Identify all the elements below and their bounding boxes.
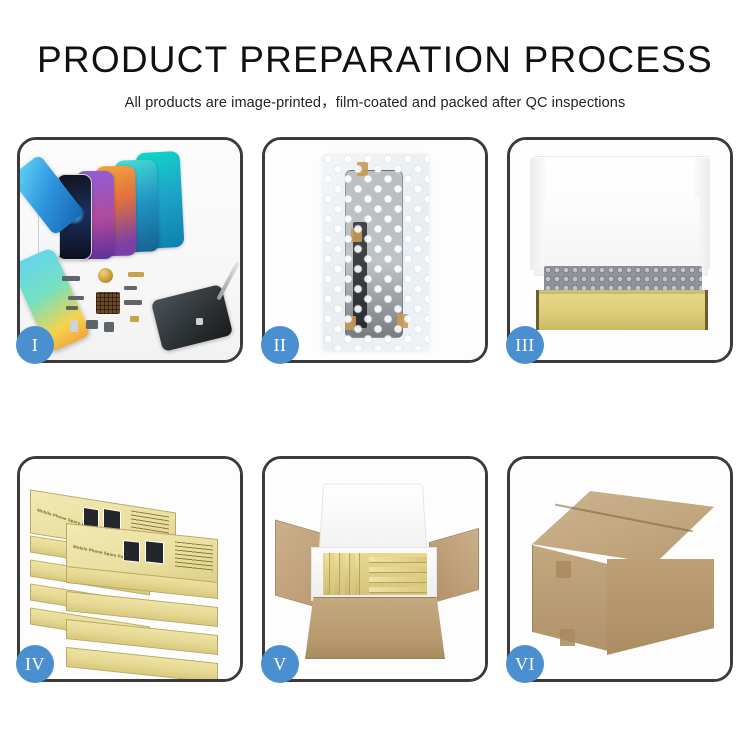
step-card-4: Mobile Phone Spare Parts Mobile Phone Sp… — [17, 456, 243, 682]
inner-box-row-2 — [369, 567, 427, 573]
step-badge-6: VI — [506, 645, 544, 683]
inner-box-slat-1 — [325, 553, 330, 595]
step-card-1: I — [17, 137, 243, 363]
step-image-2 — [265, 140, 485, 360]
page-subtitle: All products are image-printed，film-coat… — [0, 91, 750, 112]
yellow-box-base — [536, 290, 708, 330]
step-card-5: V — [262, 456, 488, 682]
box-spec-lines-front — [175, 541, 213, 571]
phone-parts-illustration — [20, 140, 240, 360]
step-badge-3: III — [506, 326, 544, 364]
box-label-text-front: Mobile Phone Spare Parts — [73, 544, 130, 561]
step-card-6: VI — [507, 456, 733, 682]
box-phone-graphic-front-2 — [145, 540, 164, 564]
bubble-wrapped-contents — [544, 266, 702, 292]
ribbon-cable-chip — [68, 296, 84, 300]
step-badge-2: II — [261, 326, 299, 364]
step-image-6 — [510, 459, 730, 679]
screw-part-chip — [196, 318, 203, 325]
carton-front-panel — [305, 597, 445, 659]
foam-lid-open — [319, 484, 428, 554]
camera-module-chip — [86, 320, 98, 329]
step-badge-5: V — [261, 645, 299, 683]
carton-right-face — [607, 559, 714, 655]
copper-grid-chip — [96, 292, 120, 314]
sealed-carton-illustration — [510, 459, 730, 679]
inner-box-slat-2 — [335, 553, 340, 595]
inner-box-row-1 — [369, 557, 427, 563]
antenna-flex-chip — [124, 300, 142, 305]
foam-sheet — [544, 198, 700, 270]
inner-box-row-3 — [369, 577, 427, 583]
inner-box-row-4 — [369, 587, 427, 593]
sim-tray-chip — [70, 320, 78, 332]
bubble-texture — [323, 154, 429, 350]
gold-contact-chip — [130, 316, 139, 322]
button-module-chip — [104, 322, 114, 332]
inner-box-slat-4 — [355, 553, 360, 595]
step-card-3: III — [507, 137, 733, 363]
product-preparation-infographic: PRODUCT PREPARATION PROCESS All products… — [0, 0, 750, 750]
step-image-1 — [20, 140, 240, 360]
tweezers-tool-icon — [216, 262, 239, 301]
small-connector-chip — [124, 286, 137, 290]
yellow-boxes-inside — [323, 553, 427, 595]
step-image-5 — [265, 459, 485, 679]
inner-box-slat-3 — [345, 553, 350, 595]
inner-box-illustration — [510, 140, 730, 360]
header: PRODUCT PREPARATION PROCESS All products… — [0, 0, 750, 112]
step-badge-1: I — [16, 326, 54, 364]
step-card-2: II — [262, 137, 488, 363]
stacked-boxes-illustration: Mobile Phone Spare Parts Mobile Phone Sp… — [20, 459, 240, 679]
gold-connector-chip — [128, 272, 144, 277]
box-phone-graphic-front-1 — [123, 540, 140, 563]
speaker-module-icon — [98, 268, 113, 283]
carton-tape-lower — [560, 629, 575, 646]
step-image-3 — [510, 140, 730, 360]
carton-packing-illustration — [265, 459, 485, 679]
ribbon-cable-chip-2 — [66, 306, 78, 310]
carton-tape-upper — [556, 561, 571, 578]
step-badge-4: IV — [16, 645, 54, 683]
flex-cable-chip — [62, 276, 80, 281]
step-image-4: Mobile Phone Spare Parts Mobile Phone Sp… — [20, 459, 240, 679]
bubble-wrap-bag — [323, 154, 429, 350]
bubble-wrap-illustration — [265, 140, 485, 360]
page-title: PRODUCT PREPARATION PROCESS — [0, 40, 750, 80]
process-steps-grid: I II — [17, 137, 733, 682]
